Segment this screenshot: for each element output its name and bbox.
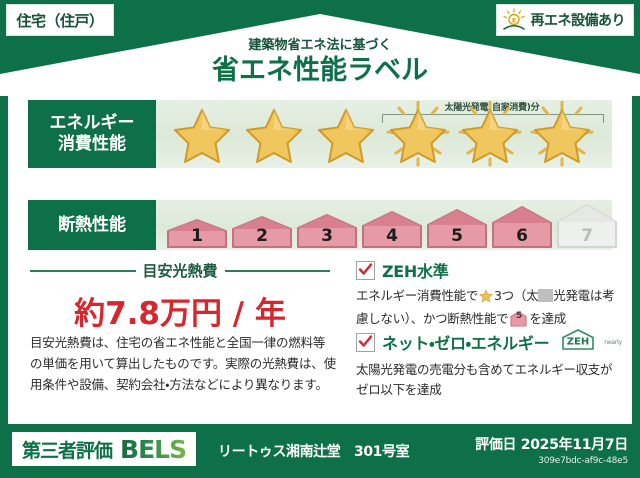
svg-text:ZEH: ZEH xyxy=(567,337,589,348)
bels-logo: 第三者評価 BELS xyxy=(12,432,196,466)
insulation-level-number: 1 xyxy=(166,226,228,246)
feature-zeh-title: ZEH水準 xyxy=(382,258,448,282)
utility-cost-block: 目安光熱費 約7.8万円 / 年 xyxy=(30,260,330,333)
label-title-block: 建築物省エネ法に基づく 省エネ性能ラベル xyxy=(0,38,640,87)
insulation-level-6: 6 xyxy=(491,205,553,250)
feature-zeh-heading: ZEH水準 xyxy=(356,258,624,282)
solar-ray-3 xyxy=(576,108,581,114)
label-footer: 第三者評価 BELS リートゥス湘南辻堂 301号室 評価日 2025年11月7… xyxy=(0,424,640,478)
star-5 xyxy=(454,101,526,167)
energy-key-line2: 消費性能 xyxy=(58,134,126,155)
insulation-level-5: 5 xyxy=(426,208,488,250)
building-type-badge: 住宅（住戸） xyxy=(6,4,114,36)
insulation-performance-value: 1234567 xyxy=(156,200,612,250)
evaluation-id: 309e7bdc-af9c-48e5 xyxy=(475,456,628,466)
svg-text:E: E xyxy=(512,16,516,24)
utility-cost-heading-text: 目安光熱費 xyxy=(143,260,218,281)
energy-performance-row: エネルギー 消費性能 太陽光発電(自家消費)分 xyxy=(28,100,612,168)
zeh-logo-subtext: nearly xyxy=(604,339,622,346)
solar-ray-6 xyxy=(468,149,474,153)
zeh-logo-icon: ZEH xyxy=(559,328,597,356)
building-type-label: 住宅（住戸） xyxy=(16,10,103,31)
property-address: リートゥス湘南辻堂 301号室 xyxy=(218,441,409,461)
solar-ray-3 xyxy=(504,108,509,114)
insulation-level-4: 4 xyxy=(361,210,423,250)
energy-performance-label: 住宅（住戸） E 再エネ設備あり 建築物省エネ法に基づく 省エネ性能ラベル xyxy=(0,0,640,478)
insulation-performance-row: 断熱性能 1234567 xyxy=(28,200,612,250)
feature-zeh-body-part1: エネルギー消費性能で xyxy=(356,288,478,303)
feature-zeh-body-star: 3つ（太 xyxy=(494,288,538,303)
utility-cost-heading: 目安光熱費 xyxy=(30,260,330,281)
checkbox-zeh-standard xyxy=(356,261,375,280)
insulation-key-label: 断熱性能 xyxy=(58,215,126,236)
utility-cost-amount: 約7.8万円 / 年 xyxy=(30,288,330,333)
redacted-text-block xyxy=(538,289,553,302)
solar-ray-1 xyxy=(399,108,404,114)
feature-nze-title: ネット・ゼロ・エネルギー xyxy=(382,330,549,354)
feature-nze-body: 太陽光発電の売電分も含めてエネルギー収支がゼロ以下を達成 xyxy=(356,360,624,400)
solar-ray-6 xyxy=(540,149,546,153)
insulation-level-scale: 1234567 xyxy=(166,200,618,250)
feature-nze-heading: ネット・ゼロ・エネルギー ZEH nearly xyxy=(356,328,624,356)
mini-house-number: 5 xyxy=(510,306,527,326)
cost-rule-left xyxy=(30,270,136,272)
insulation-level-number: 2 xyxy=(231,226,293,246)
insulation-level-number: 3 xyxy=(296,226,358,246)
evaluation-date: 評価日 2025年11月7日 xyxy=(475,434,628,454)
evaluation-date-block: 評価日 2025年11月7日 309e7bdc-af9c-48e5 xyxy=(475,434,628,466)
solar-ray-1 xyxy=(471,108,476,114)
insulation-performance-key: 断熱性能 xyxy=(28,200,156,250)
insulation-level-number: 4 xyxy=(361,226,423,246)
label-card: エネルギー 消費性能 太陽光発電(自家消費)分 断熱性能 1234567 xyxy=(8,90,632,424)
energy-star-rating xyxy=(166,100,606,168)
mini-house-icon: 5 xyxy=(510,311,527,327)
feature-net-zero-energy: ネット・ゼロ・エネルギー ZEH nearly 太陽光発電の売電分も含めてエネル… xyxy=(356,328,624,400)
feature-zeh-body-redacted: 光発電 xyxy=(553,288,590,303)
insulation-level-1: 1 xyxy=(166,218,228,250)
feature-zeh-standard: ZEH水準 エネルギー消費性能で 3つ（太光発電は考慮しない）、かつ断熱性能で … xyxy=(356,258,624,329)
star-2 xyxy=(238,101,310,167)
insulation-level-3: 3 xyxy=(296,213,358,250)
cost-rule-right xyxy=(225,270,331,272)
star-6 xyxy=(526,101,598,167)
star-4 xyxy=(382,101,454,167)
star-1 xyxy=(166,101,238,167)
mini-star-icon xyxy=(479,289,493,309)
label-subtitle: 建築物省エネ法に基づく xyxy=(0,38,640,54)
star-3 xyxy=(310,101,382,167)
feature-zeh-body-part3: を達成 xyxy=(529,311,566,326)
insulation-level-number: 5 xyxy=(426,226,488,246)
solar-ray-6 xyxy=(396,149,402,153)
solar-ray-7 xyxy=(578,149,584,153)
insulation-level-number: 7 xyxy=(556,226,618,246)
insulation-level-number: 6 xyxy=(491,226,553,246)
solar-ray-7 xyxy=(434,149,440,153)
energy-key-line1: エネルギー xyxy=(50,113,135,134)
solar-ray-1 xyxy=(543,108,548,114)
bels-jp-label: 第三者評価 xyxy=(22,436,112,463)
checkbox-net-zero-energy xyxy=(356,333,375,352)
bels-en-label: BELS xyxy=(120,435,186,464)
renewable-equipment-badge: E 再エネ設備あり xyxy=(496,4,635,36)
insulation-level-7: 7 xyxy=(556,203,618,250)
insulation-level-2: 2 xyxy=(231,215,293,250)
utility-cost-note: 目安光熱費は、住宅の省エネ性能と全国一律の燃料等の単価を用いて算出したものです。… xyxy=(30,332,336,395)
feature-zeh-body: エネルギー消費性能で 3つ（太光発電は考慮しない）、かつ断熱性能で 5 を達成 xyxy=(356,286,624,329)
label-title: 省エネ性能ラベル xyxy=(0,54,640,87)
solar-ray-7 xyxy=(506,149,512,153)
energy-performance-key: エネルギー 消費性能 xyxy=(28,100,156,168)
renewable-equipment-label: 再エネ設備あり xyxy=(531,10,626,30)
energy-performance-value: 太陽光発電(自家消費)分 xyxy=(156,100,612,168)
sun-renewable-icon: E xyxy=(501,8,527,32)
solar-ray-3 xyxy=(432,108,437,114)
